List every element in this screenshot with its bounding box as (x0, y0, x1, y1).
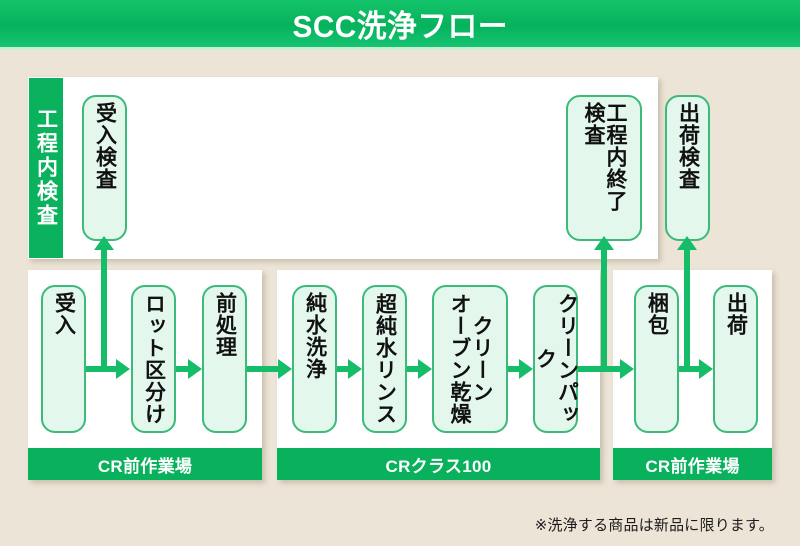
step-lot-sorting-box[interactable]: ロット区分け (131, 285, 176, 433)
step-clean-oven-drying-label-line2: オーブン乾燥 (448, 292, 470, 426)
group-footer-pre-cleanroom-area-1: CR前作業場 (28, 448, 262, 480)
group-footer-label-1: CR前作業場 (98, 452, 192, 477)
step-lot-sorting-label: ロット区分け (142, 292, 164, 426)
step-pretreatment-box[interactable]: 前処理 (202, 285, 247, 433)
arrow-ultrapure-rinse-to-clean-oven-drying (407, 366, 419, 372)
group-footer-label-2: CRクラス100 (386, 452, 492, 477)
step-clean-oven-drying-box[interactable]: クリーン オーブン乾燥 (432, 285, 508, 433)
arrow-lot-sorting-to-pretreatment (176, 366, 189, 372)
step-receiving-label: 受入 (52, 292, 74, 426)
in-process-inspection-label: 工程内検査 (36, 108, 57, 228)
group-footer-cleanroom-class-100: CRクラス100 (277, 448, 600, 480)
step-shipping-box[interactable]: 出荷 (713, 285, 758, 433)
step-shipping-label: 出荷 (724, 292, 746, 426)
step-pure-water-wash-label: 純水洗浄 (303, 292, 325, 426)
in-process-inspection-tab: 工程内検査 (29, 78, 63, 258)
receiving-inspection-text: 受入検査 (93, 102, 115, 234)
shipping-inspection-box[interactable]: 出荷検査 (665, 95, 710, 241)
step-ultrapure-water-rinse-label: 超純水リンス (373, 292, 395, 426)
step-clean-oven-drying-label-line1: クリーン (470, 292, 492, 426)
arrow-clean-pack-to-packing (578, 366, 621, 372)
arrow-up-to-receiving-inspection (101, 249, 107, 369)
arrow-pure-water-wash-to-ultrapure-rinse (337, 366, 349, 372)
group-footer-pre-cleanroom-area-2: CR前作業場 (613, 448, 772, 480)
step-packing-label: 梱包 (645, 292, 667, 426)
arrow-up-to-shipping-inspection (684, 249, 690, 369)
step-pretreatment-label: 前処理 (213, 292, 235, 426)
process-end-inspection-text-line1: 工程内終了 (604, 102, 626, 234)
step-pure-water-wash-box[interactable]: 純水洗浄 (292, 285, 337, 433)
step-packing-box[interactable]: 梱包 (634, 285, 679, 433)
arrow-clean-oven-drying-to-clean-pack (508, 366, 520, 372)
arrow-up-to-process-end-inspection (601, 249, 607, 369)
flow-diagram-root: SCC洗浄フロー 工程内検査 受入検査 工程内終了 検査 出荷検査 受入 ロット… (0, 0, 800, 546)
arrow-pretreatment-to-pure-water-wash (247, 366, 279, 372)
page-title: SCC洗浄フロー (292, 1, 507, 46)
step-ultrapure-water-rinse-box[interactable]: 超純水リンス (362, 285, 407, 433)
banner-bottom-edge (0, 47, 800, 51)
footnote-text: ※洗浄する商品は新品に限ります。 (535, 514, 774, 535)
step-clean-pack-box[interactable]: クリーンパック (533, 285, 578, 433)
page-title-banner: SCC洗浄フロー (0, 0, 800, 47)
shipping-inspection-text: 出荷検査 (676, 102, 698, 234)
process-end-inspection-box[interactable]: 工程内終了 検査 (566, 95, 642, 241)
step-clean-pack-label: クリーンパック (533, 292, 577, 426)
process-end-inspection-text-line2: 検査 (582, 102, 604, 234)
step-receiving-box[interactable]: 受入 (41, 285, 86, 433)
group-footer-label-3: CR前作業場 (645, 452, 739, 477)
receiving-inspection-box[interactable]: 受入検査 (82, 95, 127, 241)
